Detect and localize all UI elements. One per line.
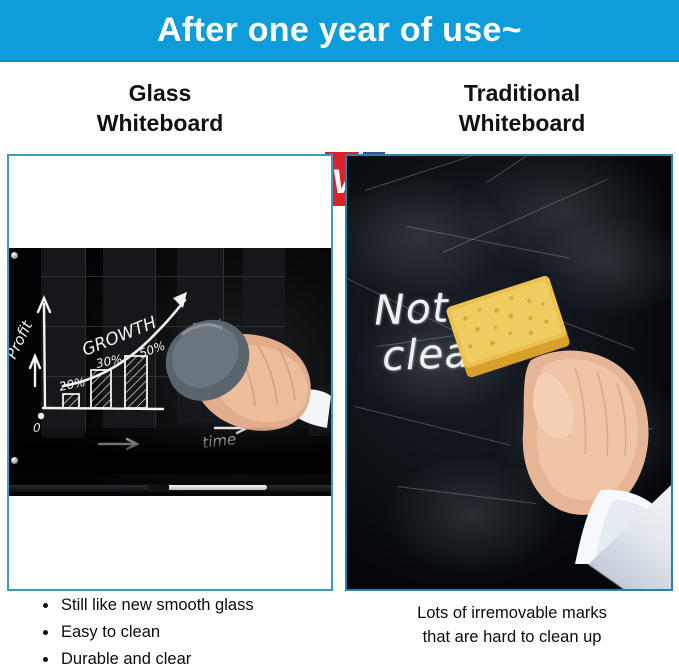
left-benefits-list: Still like new smooth glass Easy to clea… [42, 592, 342, 669]
left-comparison-panel: Profit GROWTH 75% 20% 30% 50% time 0 [7, 154, 333, 591]
chalk-label-bar-1: 20% [58, 375, 87, 394]
list-item: Still like new smooth glass [42, 592, 342, 619]
list-item: Durable and clear [42, 646, 342, 669]
headings-row: Glass Whiteboard V S Traditional Whitebo… [0, 66, 679, 152]
left-column-heading: Glass Whiteboard [10, 78, 310, 139]
right-heading-line1: Traditional [372, 78, 672, 108]
board-stud-bottom-left [11, 457, 18, 464]
hand-with-sponge [435, 264, 671, 564]
right-caption-line2: that are hard to clean up [352, 626, 672, 650]
header-banner: After one year of use~ [0, 0, 679, 62]
left-heading-line1: Glass [10, 78, 310, 108]
glass-whiteboard-photo: Profit GROWTH 75% 20% 30% 50% time 0 [7, 248, 333, 496]
list-item: Easy to clean [42, 619, 342, 646]
chalk-label-profit: Profit [7, 317, 37, 362]
traditional-whiteboard-photo: Not clean [347, 156, 671, 589]
left-heading-line2: Whiteboard [10, 108, 310, 138]
right-comparison-panel: Not clean [345, 154, 673, 591]
board-stud-top-left [11, 252, 18, 259]
right-heading-line2: Whiteboard [372, 108, 672, 138]
right-drawback-caption: Lots of irremovable marks that are hard … [352, 602, 672, 650]
right-column-heading: Traditional Whiteboard [372, 78, 672, 139]
page-title: After one year of use~ [157, 13, 522, 47]
right-caption-line1: Lots of irremovable marks [352, 602, 672, 626]
infographic-root: After one year of use~ Glass Whiteboard … [0, 0, 679, 669]
